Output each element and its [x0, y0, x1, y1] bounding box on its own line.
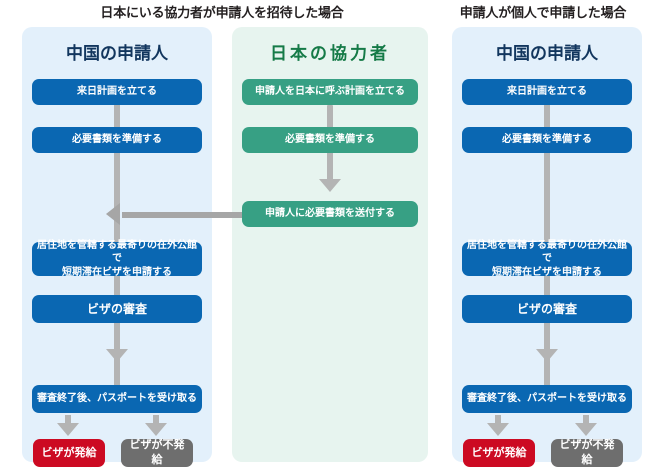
- step-box-plan-visit-left[interactable]: 来日計画を立てる: [32, 79, 202, 105]
- arrow-down-to-passport-left: [106, 349, 128, 362]
- panel-heading-applicant-right: 中国の申請人: [452, 39, 642, 64]
- flowchart-canvas: 日本にいる協力者が申請人を招待した場合 申請人が個人で申請した場合 中国の申請人…: [0, 0, 660, 473]
- arrow-down-to-send-documents: [319, 179, 341, 192]
- connector-spine-supporter-1: [327, 105, 333, 129]
- panel-heading-applicant-left: 中国の申請人: [22, 39, 212, 64]
- outcome-box-visa-approved-right[interactable]: ビザが発給: [463, 439, 535, 467]
- panel-applicant-right: 中国の申請人 来日計画を立てる 必要書類を準備する 居住地を管轄する最寄りの在外…: [452, 27, 642, 462]
- step-box-visa-review-left[interactable]: ビザの審査: [32, 295, 202, 323]
- step-box-apply-embassy-left[interactable]: 居住地を管轄する最寄りの在外公館で 短期滞在ビザを申請する: [32, 242, 202, 276]
- step-box-plan-visit-right[interactable]: 来日計画を立てる: [462, 79, 632, 105]
- step-box-apply-embassy-right[interactable]: 居住地を管轄する最寄りの在外公館で 短期滞在ビザを申請する: [462, 242, 632, 276]
- panel-heading-supporter: 日本の協力者: [232, 39, 428, 64]
- step-box-plan-invite-supporter[interactable]: 申請人を日本に呼ぶ計画を立てる: [242, 79, 418, 105]
- step-box-prepare-documents-left[interactable]: 必要書類を準備する: [32, 127, 202, 153]
- arrow-down-to-passport-right: [536, 349, 558, 362]
- panel-applicant-left: 中国の申請人 来日計画を立てる 必要書類を準備する 居住地を管轄する最寄りの在外…: [22, 27, 212, 462]
- branch-arrow-approved-left: [57, 423, 79, 436]
- connector-horizontal-send-documents: [122, 212, 242, 218]
- diagram-title-left: 日本にいる協力者が申請人を招待した場合: [22, 2, 422, 21]
- diagram-title-right: 申請人が個人で申請した場合: [432, 2, 654, 21]
- step-box-prepare-documents-right[interactable]: 必要書類を準備する: [462, 127, 632, 153]
- arrow-incoming-documents-left: [106, 203, 120, 225]
- step-box-receive-passport-left[interactable]: 審査終了後、パスポートを受け取る: [32, 385, 202, 413]
- branch-arrow-approved-right: [487, 423, 509, 436]
- step-box-receive-passport-right[interactable]: 審査終了後、パスポートを受け取る: [462, 385, 632, 413]
- outcome-box-visa-denied-left[interactable]: ビザが不発給: [121, 439, 193, 467]
- branch-arrow-denied-right: [575, 423, 597, 436]
- outcome-box-visa-denied-right[interactable]: ビザが不発給: [551, 439, 623, 467]
- panel-supporter: 日本の協力者 申請人を日本に呼ぶ計画を立てる 必要書類を準備する 申請人に必要書…: [232, 27, 428, 462]
- branch-arrow-denied-left: [145, 423, 167, 436]
- step-box-prepare-documents-supporter[interactable]: 必要書類を準備する: [242, 127, 418, 153]
- step-box-send-documents-supporter[interactable]: 申請人に必要書類を送付する: [242, 201, 418, 227]
- step-box-visa-review-right[interactable]: ビザの審査: [462, 295, 632, 323]
- outcome-box-visa-approved-left[interactable]: ビザが発給: [33, 439, 105, 467]
